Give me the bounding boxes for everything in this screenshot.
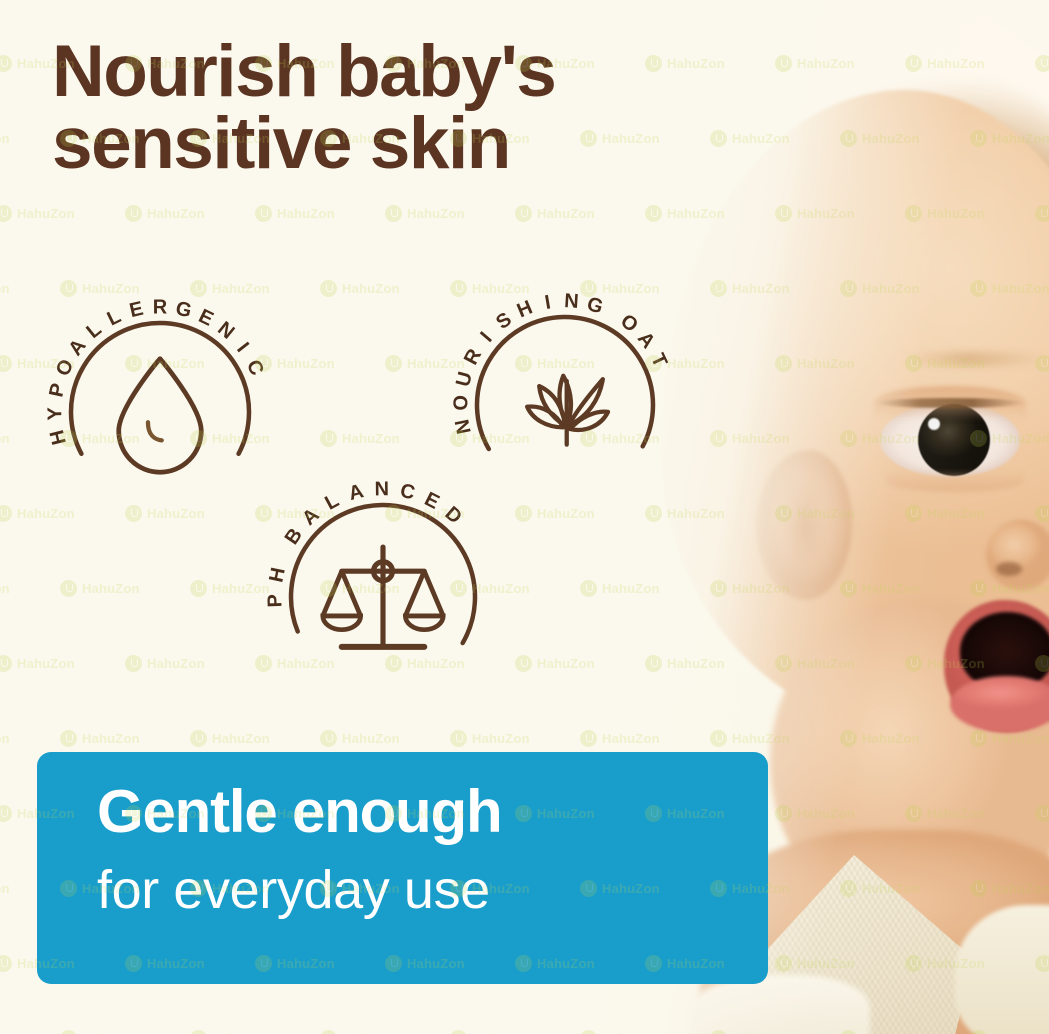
svg-text:D: D (441, 502, 466, 528)
svg-text:N: N (374, 478, 389, 500)
svg-text:A: A (633, 328, 659, 353)
oat-leaf-icon (527, 376, 608, 445)
svg-text:R: R (153, 296, 168, 318)
badge-hypoallergenic: HYPOALLERGENIC (44, 296, 268, 472)
svg-text:P: P (45, 381, 69, 399)
svg-text:A: A (64, 335, 90, 360)
svg-text:E: E (127, 298, 145, 322)
svg-text:B: B (281, 524, 307, 548)
svg-text:I: I (232, 339, 253, 357)
svg-text:L: L (82, 318, 105, 343)
badge-label: HYPOALLERGENIC (44, 296, 268, 447)
svg-text:Y: Y (44, 406, 66, 420)
svg-text:P: P (264, 594, 286, 608)
water-drop-icon (119, 359, 202, 473)
badge-label: PHBALANCED (264, 478, 466, 608)
svg-text:R: R (460, 345, 486, 368)
svg-text:L: L (104, 305, 125, 330)
svg-text:O: O (450, 395, 472, 411)
badge-ph-balanced: PHBALANCED (264, 478, 475, 647)
svg-text:H: H (514, 296, 536, 322)
svg-text:G: G (174, 297, 194, 322)
svg-text:A: A (298, 504, 323, 530)
product-banner-canvas: Nourish baby's sensitive skin HYPOALLERG… (0, 0, 1049, 1034)
svg-text:N: N (213, 318, 238, 344)
svg-text:L: L (321, 490, 342, 515)
banner-subtitle: for everyday use (97, 862, 490, 919)
badge-ring (71, 323, 249, 454)
banner-title: Gentle enough (97, 782, 501, 842)
svg-text:E: E (421, 488, 443, 514)
svg-text:N: N (564, 290, 580, 313)
svg-text:H: H (46, 428, 71, 447)
svg-text:S: S (492, 308, 516, 334)
svg-text:O: O (616, 310, 642, 337)
svg-text:O: O (52, 356, 79, 379)
svg-text:N: N (451, 417, 476, 436)
svg-text:C: C (242, 357, 268, 379)
balance-scale-icon (323, 547, 443, 647)
svg-text:E: E (195, 305, 217, 331)
svg-text:C: C (398, 480, 417, 505)
svg-text:H: H (265, 566, 289, 585)
badge-nourishing-oat: NOURISHINGOAT (450, 290, 671, 449)
svg-text:A: A (346, 480, 365, 505)
svg-text:I: I (476, 328, 496, 347)
gentle-banner: Gentle enough for everyday use (37, 752, 768, 984)
svg-text:U: U (452, 369, 477, 388)
svg-text:T: T (646, 350, 671, 370)
svg-text:G: G (584, 293, 605, 319)
svg-text:I: I (543, 291, 552, 314)
